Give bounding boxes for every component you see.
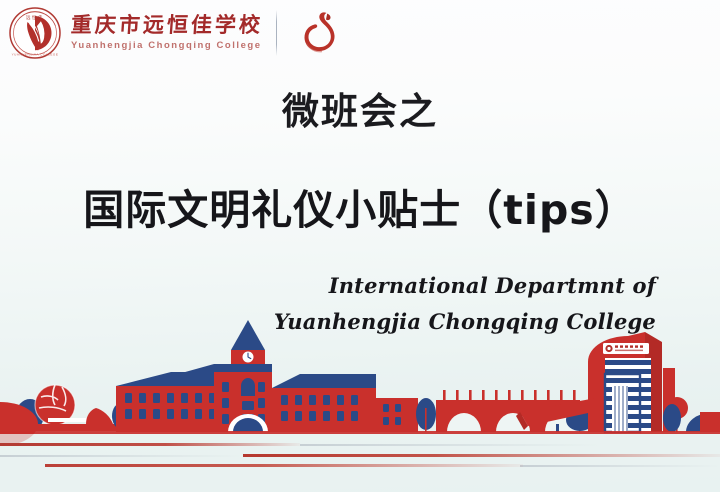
footer-rule-3 [45, 464, 523, 467]
school-name-en: Yuanhengjia Chongqing College [71, 41, 263, 51]
school-logo-lockup: 远恒佳 YUANHENGJIA COLLEGE 重庆市远恒佳学校 Yuanhen… [8, 4, 345, 62]
footer-rule-ghost-2 [0, 455, 243, 457]
trees [663, 368, 720, 432]
subtitle-line-1: International Departmnt of [0, 268, 656, 304]
logo-divider [276, 10, 277, 56]
school-seal-icon: 远恒佳 YUANHENGJIA COLLEGE [8, 6, 62, 60]
svg-text:远恒佳: 远恒佳 [26, 14, 44, 21]
brush-stroke-mark-icon [293, 7, 345, 59]
presentation-slide: 远恒佳 YUANHENGJIA COLLEGE 重庆市远恒佳学校 Yuanhen… [0, 0, 720, 492]
footer-rule-ghost-3 [520, 465, 720, 467]
page-title-secondary: 国际文明礼仪小贴士（tips） [0, 185, 720, 235]
svg-text:YUANHENGJIA COLLEGE: YUANHENGJIA COLLEGE [12, 53, 59, 57]
footer-rule-1 [0, 443, 300, 446]
footer-rule-2 [243, 454, 720, 457]
footer-rule-ghost-1 [300, 444, 600, 446]
school-name-cn: 重庆市远恒佳学校 [70, 15, 263, 36]
page-title-primary: 微班会之 [0, 90, 720, 134]
brick-wing-right [376, 398, 436, 432]
modern-tower-building [516, 332, 662, 432]
school-wordmark: 重庆市远恒佳学校 Yuanhengjia Chongqing College [71, 15, 263, 51]
clock-tower-building [116, 320, 376, 432]
